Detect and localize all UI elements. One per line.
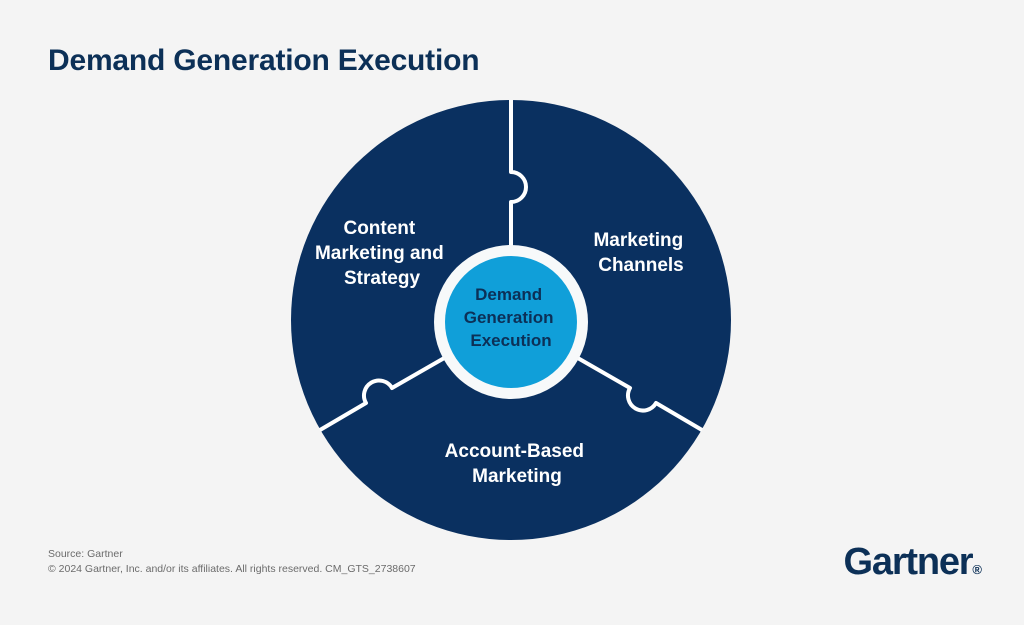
- wheel-svg: Demand Generation Execution Content Mark…: [0, 0, 1024, 625]
- hub-label-line-2: Generation: [464, 308, 554, 327]
- footer-copyright: © 2024 Gartner, Inc. and/or its affiliat…: [48, 562, 416, 577]
- footer-source: Source: Gartner: [48, 547, 416, 562]
- hub-label-line-3: Execution: [470, 331, 551, 350]
- segment-label-line-1: Content: [343, 218, 415, 239]
- segment-label-line-1: Account-Based: [445, 441, 584, 462]
- segment-label-line-2: Marketing: [472, 466, 562, 487]
- gartner-logo-text: Gartner: [844, 541, 973, 583]
- demand-generation-wheel-diagram: Demand Generation Execution Content Mark…: [0, 0, 1024, 625]
- segment-label-line-2: Channels: [598, 255, 684, 276]
- hub-label-line-1: Demand: [475, 285, 542, 304]
- registered-trademark-icon: ®: [972, 562, 982, 577]
- segment-label-line-2: Marketing and: [315, 243, 444, 264]
- slide-canvas: Demand Generation Execution Demand Gener…: [0, 0, 1024, 625]
- segment-label-line-1: Marketing: [593, 230, 683, 251]
- hub-label: Demand Generation Execution: [464, 285, 558, 350]
- footer-notes: Source: Gartner © 2024 Gartner, Inc. and…: [48, 547, 416, 577]
- segment-label-line-3: Strategy: [344, 268, 420, 289]
- gartner-logo: Gartner®: [844, 543, 982, 581]
